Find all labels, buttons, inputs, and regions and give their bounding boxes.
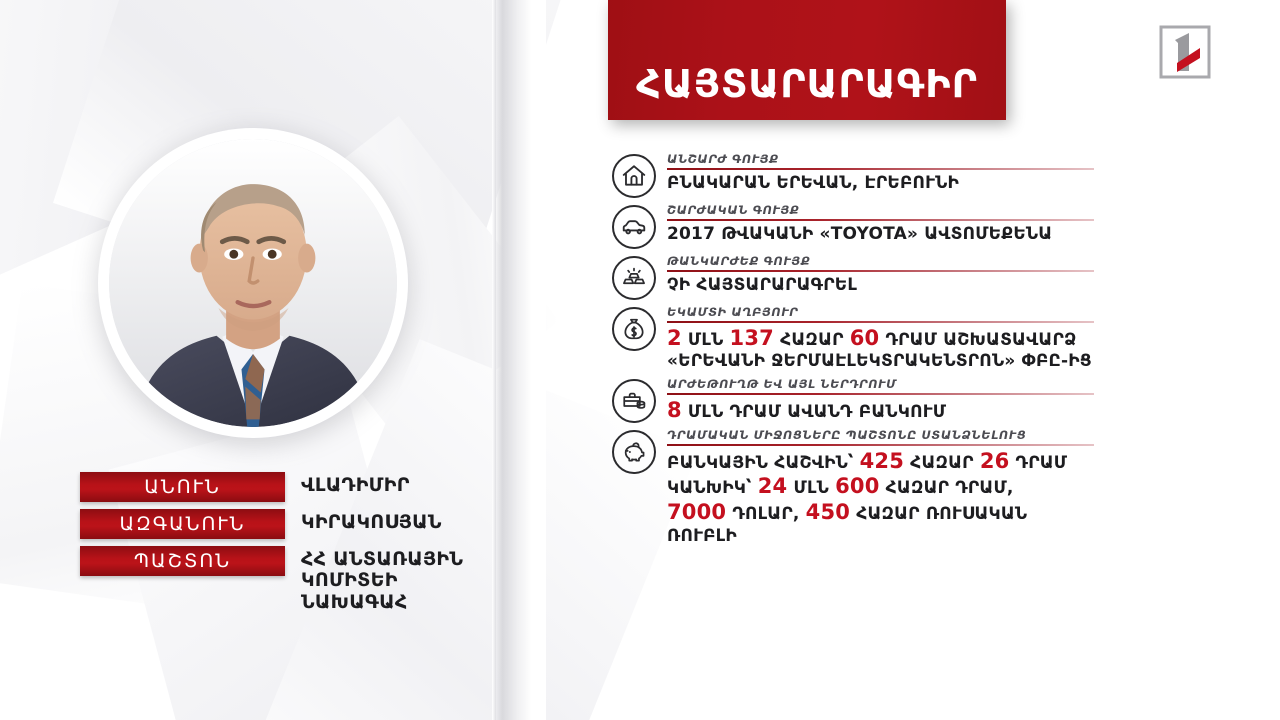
declaration-row-vehicle: ՇԱՐԺԱԿԱՆ ԳՈՒՅՔ 2017 ԹՎԱԿԱՆԻ «TOYOTA» ԱՎՏ…: [612, 203, 1094, 249]
declaration-rule: [667, 168, 1094, 170]
identity-label: ԱՆՈՒՆ: [144, 476, 220, 498]
identity-value: ԿԻՐԱԿՈՍՅԱՆ: [301, 509, 442, 533]
declaration-label: ԹԱՆԿԱՐԺԵՔ ԳՈՒՅՔ: [667, 255, 1094, 268]
page-title-banner: ՀԱՅՏԱՐԱՐԱԳԻՐ: [608, 0, 1006, 120]
declaration-label: ԵԿԱՄՏԻ ԱՂԲՅՈՒՐ: [667, 306, 1094, 319]
declaration-rule: [667, 444, 1094, 446]
piggy-bank-icon: [612, 430, 656, 474]
panel-divider: [494, 0, 546, 720]
briefcase-coins-icon: [612, 379, 656, 423]
identity-block: ԱՆՈՒՆ ՎԼԱԴԻՄԻՐ ԱԶԳԱՆՈՒՆ ԿԻՐԱԿՈՍՅԱՆ ՊԱՇՏՈ…: [80, 472, 500, 620]
identity-row-position: ՊԱՇՏՈՆ ՀՀ ԱՆՏԱՌԱՅԻՆ ԿՈՄԻՏԵԻ ՆԱԽԱԳԱՀ: [80, 546, 500, 613]
money-bag-icon: [612, 307, 656, 351]
gold-bars-icon: [612, 256, 656, 300]
identity-row-name: ԱՆՈՒՆ ՎԼԱԴԻՄԻՐ: [80, 472, 500, 502]
portrait-photo: [109, 139, 397, 427]
channel-one-logo: [1156, 24, 1214, 80]
declaration-rule: [667, 393, 1094, 395]
declaration-value: 2017 ԹՎԱԿԱՆԻ «TOYOTA» ԱՎՏՈՄԵՔԵՆԱ: [667, 224, 1094, 245]
declaration-label: ԱՐԺԵԹՈՒՂԹ ԵՎ ԱՅԼ ՆԵՐԴՐՈՒՄ: [667, 378, 1094, 391]
declaration-row-securities: ԱՐԺԵԹՈՒՂԹ ԵՎ ԱՅԼ ՆԵՐԴՐՈՒՄ 8 ՄԼՆ ԴՐԱՄ ԱՎԱ…: [612, 377, 1094, 423]
declaration-value: ԲԱՆԿԱՅԻՆ ՀԱՇՎԻՆ՝ 425 ՀԱԶԱՐ 26 ԴՐԱՄԿԱՆԽԻԿ…: [667, 449, 1094, 547]
avatar: [98, 128, 408, 438]
declaration-list: ԱՆՇԱՐԺ ԳՈՒՅՔ ԲՆԱԿԱՐԱՆ ԵՐԵՎԱՆ, ԷՐԵԲՈՒՆԻ Շ…: [612, 152, 1094, 551]
identity-label-chip: ԱՆՈՒՆ: [80, 472, 285, 502]
identity-label-chip: ԱԶԳԱՆՈՒՆ: [80, 509, 285, 539]
declaration-value: 8 ՄԼՆ ԴՐԱՄ ԱՎԱՆԴ ԲԱՆԿՈՒՄ: [667, 398, 1094, 424]
declaration-label: ԴՐԱՄԱԿԱՆ ՄԻՋՈՑՆԵՐԸ ՊԱՇՏՈՆԸ ՍՏԱՆՁՆԵԼՈՒՑ: [667, 429, 1094, 442]
declaration-value: ԲՆԱԿԱՐԱՆ ԵՐԵՎԱՆ, ԷՐԵԲՈՒՆԻ: [667, 173, 1094, 194]
declaration-label: ԱՆՇԱՐԺ ԳՈՒՅՔ: [667, 153, 1094, 166]
identity-label: ԱԶԳԱՆՈՒՆ: [120, 513, 246, 535]
identity-label: ՊԱՇՏՈՆ: [134, 550, 231, 572]
house-icon: [612, 154, 656, 198]
declaration-row-real-estate: ԱՆՇԱՐԺ ԳՈՒՅՔ ԲՆԱԿԱՐԱՆ ԵՐԵՎԱՆ, ԷՐԵԲՈՒՆԻ: [612, 152, 1094, 198]
declaration-rule: [667, 321, 1094, 323]
identity-value: ՎԼԱԴԻՄԻՐ: [301, 472, 410, 496]
declaration-value: 2 ՄԼՆ 137 ՀԱԶԱՐ 60 ԴՐԱՄ ԱՇԽԱՏԱՎԱՐՁ«ԵՐԵՎԱ…: [667, 326, 1094, 372]
declaration-value: ՉԻ ՀԱՅՏԱՐԱՐԱԳՐԵԼ: [667, 275, 1094, 296]
car-icon: [612, 205, 656, 249]
declaration-row-income: ԵԿԱՄՏԻ ԱՂԲՅՈՒՐ 2 ՄԼՆ 137 ՀԱԶԱՐ 60 ԴՐԱՄ Ա…: [612, 305, 1094, 372]
declaration-rule: [667, 219, 1094, 221]
declaration-row-cash: ԴՐԱՄԱԿԱՆ ՄԻՋՈՑՆԵՐԸ ՊԱՇՏՈՆԸ ՍՏԱՆՁՆԵԼՈՒՑ Բ…: [612, 428, 1094, 546]
declaration-row-valuables: ԹԱՆԿԱՐԺԵՔ ԳՈՒՅՔ ՉԻ ՀԱՅՏԱՐԱՐԱԳՐԵԼ: [612, 254, 1094, 300]
page-title: ՀԱՅՏԱՐԱՐԱԳԻՐ: [636, 62, 978, 106]
declaration-label: ՇԱՐԺԱԿԱՆ ԳՈՒՅՔ: [667, 204, 1094, 217]
identity-value: ՀՀ ԱՆՏԱՌԱՅԻՆ ԿՈՄԻՏԵԻ ՆԱԽԱԳԱՀ: [301, 546, 500, 613]
identity-label-chip: ՊԱՇՏՈՆ: [80, 546, 285, 576]
identity-row-surname: ԱԶԳԱՆՈՒՆ ԿԻՐԱԿՈՍՅԱՆ: [80, 509, 500, 539]
declaration-rule: [667, 270, 1094, 272]
